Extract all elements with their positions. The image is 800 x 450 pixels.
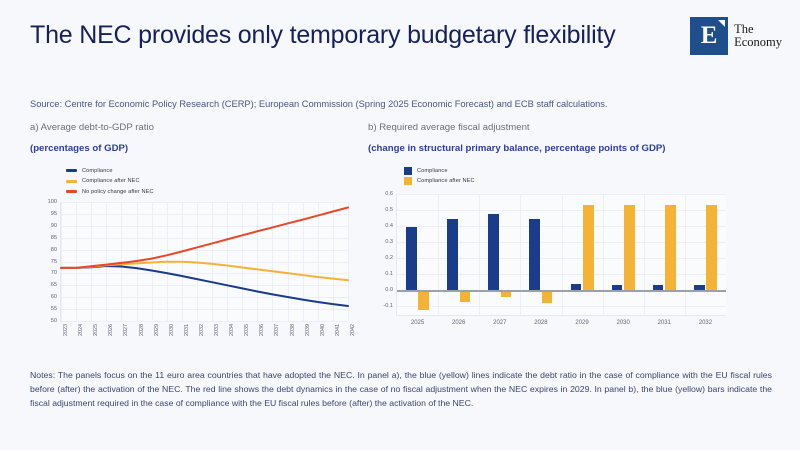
- x-axis-tick-label: 2030: [617, 320, 630, 326]
- x-axis-tick-label: 2023: [63, 324, 69, 336]
- y-axis-tick-label: 65: [51, 282, 57, 288]
- logo-wordmark: The Economy: [734, 23, 782, 50]
- x-axis-tick-label: 2027: [123, 324, 129, 336]
- y-axis-tick-label: 0.4: [385, 223, 393, 229]
- legend-item-label: Compliance after NEC: [417, 178, 475, 184]
- line-series: [61, 207, 348, 267]
- panel-a-subheading: (percentages of GDP): [30, 143, 370, 154]
- x-axis-tick-label: 2030: [169, 324, 175, 336]
- y-axis-tick-label: 95: [51, 211, 57, 217]
- y-axis-tick-label: 75: [51, 259, 57, 265]
- y-axis-tick-label: 0.3: [385, 239, 393, 245]
- page-title: The NEC provides only temporary budgetar…: [30, 20, 650, 51]
- x-axis-tick-label: 2039: [305, 324, 311, 336]
- x-axis-tick-label: 2028: [139, 324, 145, 336]
- x-axis-tick-label: 2035: [244, 324, 250, 336]
- bar: [665, 205, 676, 291]
- x-axis-tick-label: 2032: [699, 320, 712, 326]
- legend-item: Compliance after NEC: [66, 177, 370, 186]
- legend-item-label: No policy change after NEC: [82, 189, 154, 195]
- y-axis-tick-label: 0.0: [385, 287, 393, 293]
- x-axis-tick-label: 2031: [658, 320, 671, 326]
- y-axis-tick-label: 85: [51, 235, 57, 241]
- gridline: [685, 194, 686, 315]
- bar: [529, 219, 540, 290]
- gridline: [438, 194, 439, 315]
- bar: [583, 205, 594, 291]
- logo-e-icon: E: [690, 17, 728, 55]
- gridline: [348, 202, 349, 321]
- x-axis-tick-label: 2036: [259, 324, 265, 336]
- legend-item-label: Compliance after NEC: [82, 178, 140, 184]
- y-axis-tick-label: 50: [51, 318, 57, 324]
- logo-line-2: Economy: [734, 36, 782, 50]
- x-axis-tick-label: 2041: [335, 324, 341, 336]
- source-line: Source: Centre for Economic Policy Resea…: [30, 98, 775, 110]
- x-axis-tick-label: 2037: [274, 324, 280, 336]
- panel-a-chart: 5055606570758085909510020232024202520262…: [30, 200, 348, 348]
- gridline: [562, 194, 563, 315]
- panel-b-plot-area: -0.10.00.10.20.30.40.50.6202520262027202…: [396, 194, 726, 316]
- legend-item: Compliance after NEC: [404, 177, 768, 186]
- y-axis-tick-label: -0.1: [383, 303, 393, 309]
- x-axis-tick-label: 2032: [199, 324, 205, 336]
- panel-a-legend: ComplianceCompliance after NECNo policy …: [66, 166, 370, 196]
- logo-line-1: The: [734, 23, 782, 37]
- legend-item: No policy change after NEC: [66, 187, 370, 196]
- legend-swatch-icon: [66, 190, 77, 193]
- x-axis-tick-label: 2028: [534, 320, 547, 326]
- y-axis-tick-label: 0.2: [385, 255, 393, 261]
- x-axis-tick-label: 2038: [290, 324, 296, 336]
- legend-swatch-icon: [66, 180, 77, 183]
- bar: [542, 290, 553, 303]
- bar: [706, 205, 717, 291]
- y-axis-tick-label: 100: [48, 199, 57, 205]
- panel-b: b) Required average fiscal adjustment (c…: [368, 122, 768, 342]
- x-axis-tick-label: 2024: [78, 324, 84, 336]
- x-axis-tick-label: 2031: [184, 324, 190, 336]
- line-series-group: [61, 202, 348, 321]
- y-axis-tick-label: 70: [51, 270, 57, 276]
- bar: [406, 227, 417, 290]
- bar: [418, 290, 429, 309]
- x-axis-tick-label: 2029: [154, 324, 160, 336]
- slide-root: The NEC provides only temporary budgetar…: [0, 0, 800, 450]
- bar: [460, 290, 471, 301]
- gridline: [603, 194, 604, 315]
- x-axis-tick-label: 2025: [93, 324, 99, 336]
- bar: [624, 205, 635, 291]
- legend-item-label: Compliance: [82, 168, 113, 174]
- x-axis-tick-label: 2034: [229, 324, 235, 336]
- panel-b-heading: b) Required average fiscal adjustment: [368, 122, 768, 133]
- bar: [488, 214, 499, 290]
- y-axis-tick-label: 0.1: [385, 271, 393, 277]
- gridline: [61, 321, 348, 322]
- x-axis-tick-label: 2027: [493, 320, 506, 326]
- x-axis-tick-label: 2026: [452, 320, 465, 326]
- y-axis-tick-label: 90: [51, 223, 57, 229]
- panel-b-subheading: (change in structural primary balance, p…: [368, 143, 768, 154]
- zero-axis-line: [397, 290, 726, 291]
- notes-text: Notes: The panels focus on the 11 euro a…: [30, 368, 772, 410]
- panel-a-heading: a) Average debt-to-GDP ratio: [30, 122, 370, 133]
- x-axis-tick-label: 2042: [350, 324, 356, 336]
- legend-swatch-icon: [66, 169, 77, 172]
- y-axis-tick-label: 80: [51, 247, 57, 253]
- logo-letter: E: [701, 22, 718, 50]
- legend-item: Compliance: [404, 166, 768, 175]
- y-axis-tick-label: 60: [51, 294, 57, 300]
- panel-a: a) Average debt-to-GDP ratio (percentage…: [30, 122, 370, 348]
- gridline: [520, 194, 521, 315]
- x-axis-tick-label: 2040: [320, 324, 326, 336]
- panel-a-plot-area: 5055606570758085909510020232024202520262…: [60, 202, 348, 322]
- brand-logo: E The Economy: [690, 17, 782, 55]
- y-axis-tick-label: 55: [51, 306, 57, 312]
- y-axis-tick-label: 0.5: [385, 207, 393, 213]
- line-series: [61, 266, 348, 306]
- bar: [447, 219, 458, 290]
- panel-b-chart: -0.10.00.10.20.30.40.50.6202520262027202…: [368, 192, 728, 342]
- x-axis-tick-label: 2026: [108, 324, 114, 336]
- gridline: [479, 194, 480, 315]
- legend-swatch-icon: [404, 177, 412, 185]
- panel-b-legend: ComplianceCompliance after NEC: [404, 166, 768, 186]
- legend-swatch-icon: [404, 167, 412, 175]
- gridline: [644, 194, 645, 315]
- x-axis-tick-label: 2033: [214, 324, 220, 336]
- y-axis-tick-label: 0.6: [385, 191, 393, 197]
- legend-item: Compliance: [66, 166, 370, 175]
- x-axis-tick-label: 2029: [575, 320, 588, 326]
- x-axis-tick-label: 2025: [411, 320, 424, 326]
- legend-item-label: Compliance: [417, 168, 448, 174]
